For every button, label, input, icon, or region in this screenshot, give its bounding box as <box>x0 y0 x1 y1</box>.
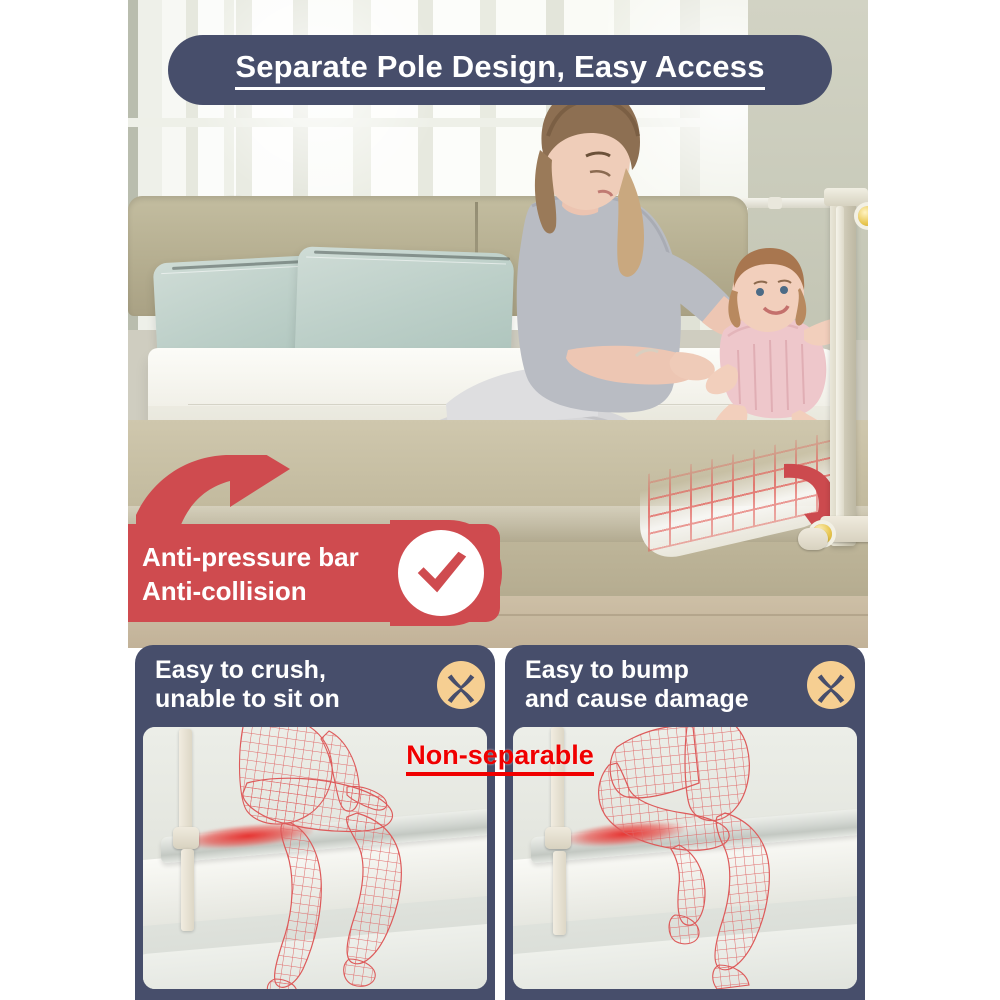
check-icon <box>410 542 472 604</box>
pole-top-cap <box>824 188 868 206</box>
panel-header: Easy to bump and cause damage <box>505 645 865 725</box>
non-separable-callout: Non-separable <box>382 740 618 776</box>
pole-inner-track <box>836 206 844 536</box>
pole-foot-roller <box>798 528 828 550</box>
page-title-banner: Separate Pole Design, Easy Access <box>168 35 832 105</box>
infographic-page: Separate Pole Design, Easy Access Anti-p… <box>0 0 1000 1000</box>
x-badge <box>807 661 855 709</box>
panel-title-line-1: Easy to bump <box>525 656 805 685</box>
panel-title-line-1: Easy to crush, <box>155 656 435 685</box>
x-badge <box>437 661 485 709</box>
feature-banner-text: Anti-pressure bar Anti-collision <box>142 540 359 608</box>
comparison-panel-crush: Easy to crush, unable to sit on <box>135 645 495 1000</box>
panel-title-line-2: unable to sit on <box>155 685 435 714</box>
page-title: Separate Pole Design, Easy Access <box>235 51 764 90</box>
x-icon <box>812 666 850 704</box>
x-icon <box>442 666 480 704</box>
feature-line-2: Anti-collision <box>142 574 359 608</box>
right-margin <box>868 0 1000 1000</box>
panel-title-line-2: and cause damage <box>525 685 805 714</box>
feature-line-1: Anti-pressure bar <box>142 540 359 574</box>
non-separable-text: Non-separable <box>406 740 594 776</box>
check-badge <box>398 530 484 616</box>
panel-title: Easy to crush, unable to sit on <box>155 656 435 714</box>
panel-header: Easy to crush, unable to sit on <box>135 645 495 725</box>
comparison-panel-bump: Easy to bump and cause damage <box>505 645 865 1000</box>
panel-title: Easy to bump and cause damage <box>525 656 805 714</box>
left-margin <box>0 0 128 1000</box>
